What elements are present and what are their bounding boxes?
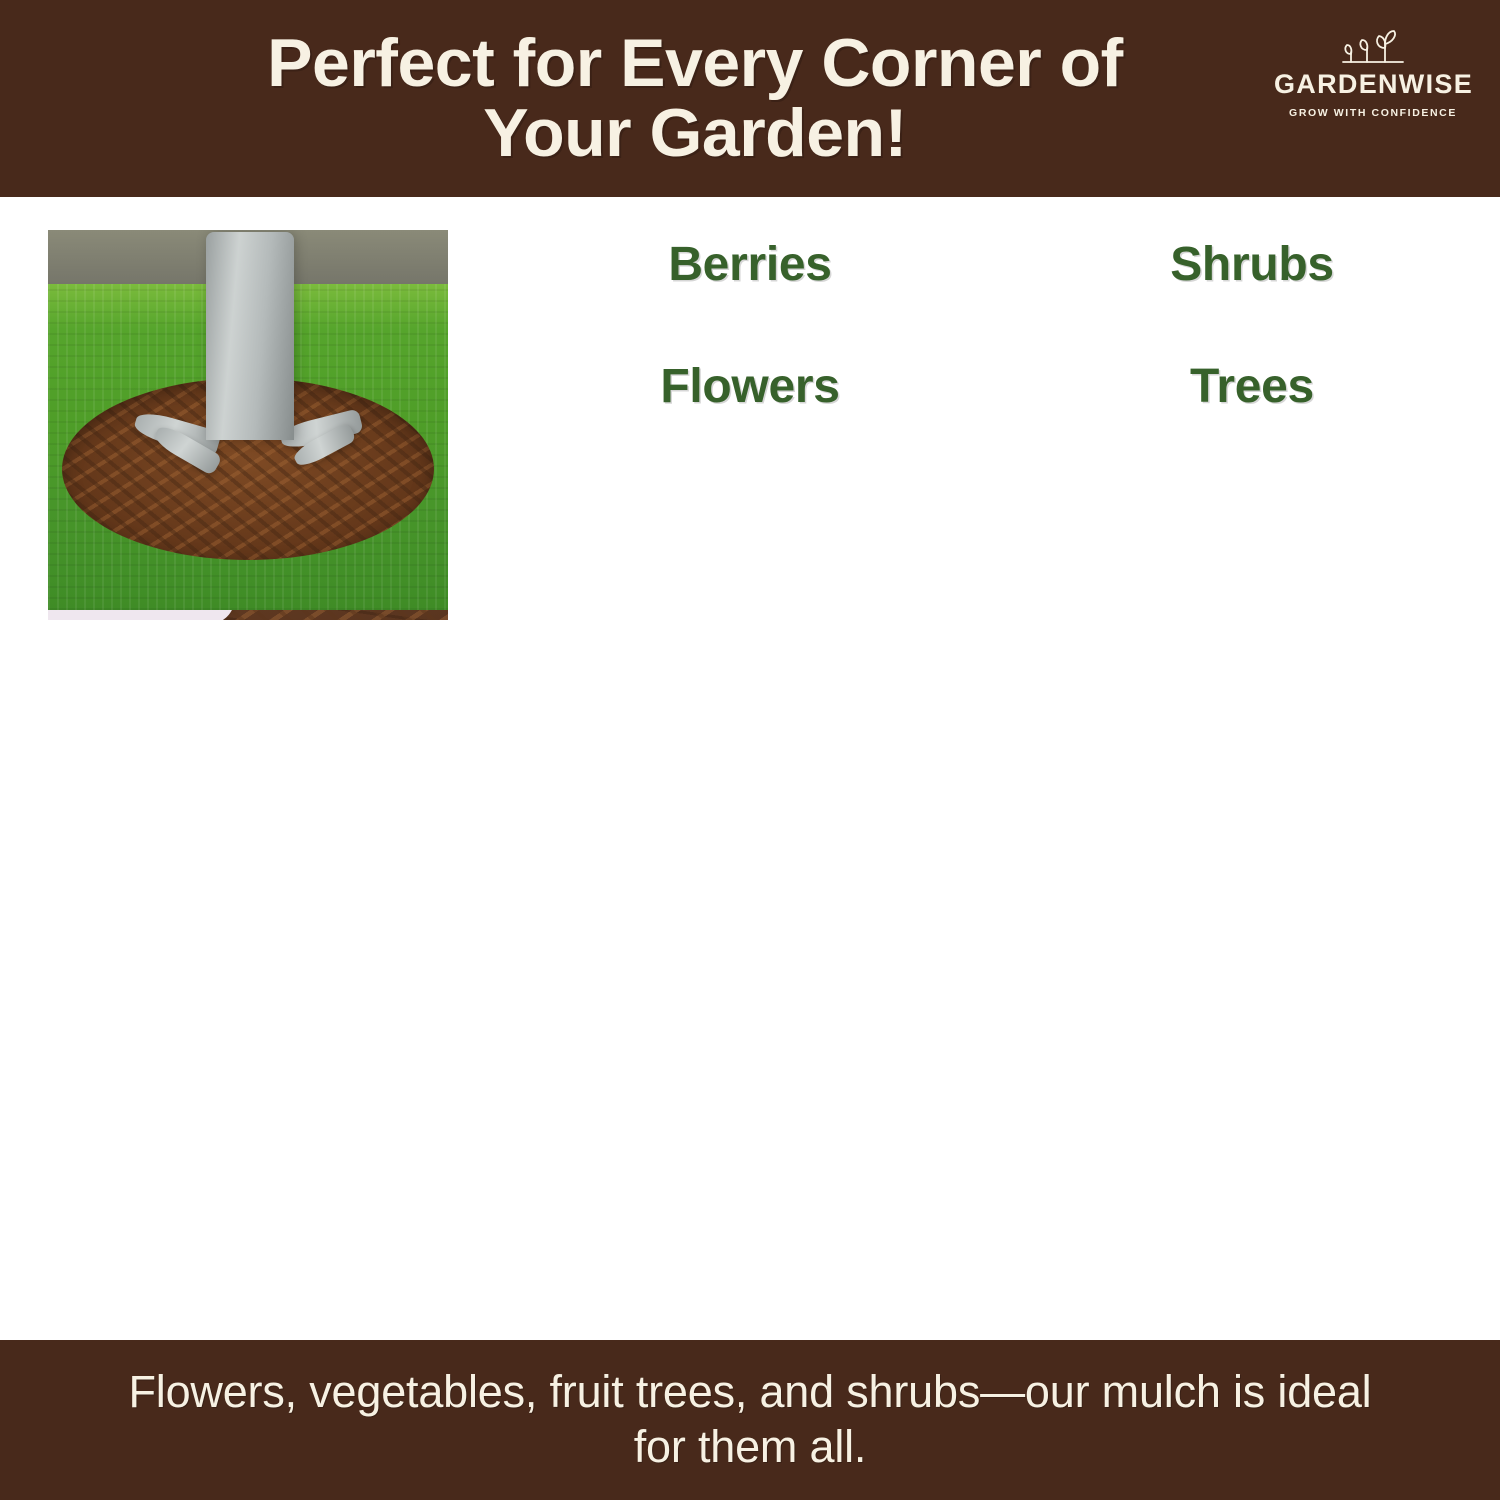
brand-logo: GARDENWISE GROW WITH CONFIDENCE bbox=[1274, 26, 1472, 119]
background-wall bbox=[48, 230, 448, 284]
category-photo-trees bbox=[48, 230, 448, 610]
category-grid: Herbs Berries bbox=[48, 230, 1452, 422]
logo-tagline: GROW WITH CONFIDENCE bbox=[1274, 107, 1472, 119]
category-cell-flowers: Flowers bbox=[550, 352, 950, 422]
category-row: Vegetables Flowers bbox=[48, 352, 1452, 422]
page-title-line-2: Your Garden! bbox=[200, 99, 1190, 168]
category-label-berries: Berries bbox=[550, 230, 950, 300]
category-label-flowers: Flowers bbox=[550, 352, 950, 422]
footer-text: Flowers, vegetables, fruit trees, and sh… bbox=[100, 1365, 1400, 1475]
category-cell-shrubs: Shrubs bbox=[1052, 230, 1452, 300]
category-label-shrubs: Shrubs bbox=[1052, 230, 1452, 300]
infographic-page: Perfect for Every Corner of Your Garden! bbox=[0, 0, 1500, 1500]
category-label-trees: Trees bbox=[1052, 352, 1452, 422]
logo-wordmark: GARDENWISE bbox=[1274, 70, 1472, 100]
header-banner: Perfect for Every Corner of Your Garden! bbox=[0, 0, 1500, 197]
page-title: Perfect for Every Corner of Your Garden! bbox=[160, 29, 1340, 168]
tree-trunk bbox=[206, 232, 294, 440]
category-cell-trees: Trees bbox=[1052, 352, 1452, 422]
page-title-line-1: Perfect for Every Corner of bbox=[267, 25, 1123, 101]
sprout-icon bbox=[1274, 26, 1472, 68]
category-cell-berries: Berries bbox=[550, 230, 950, 300]
footer-banner: Flowers, vegetables, fruit trees, and sh… bbox=[0, 1340, 1500, 1500]
mulch-ring bbox=[62, 378, 434, 560]
